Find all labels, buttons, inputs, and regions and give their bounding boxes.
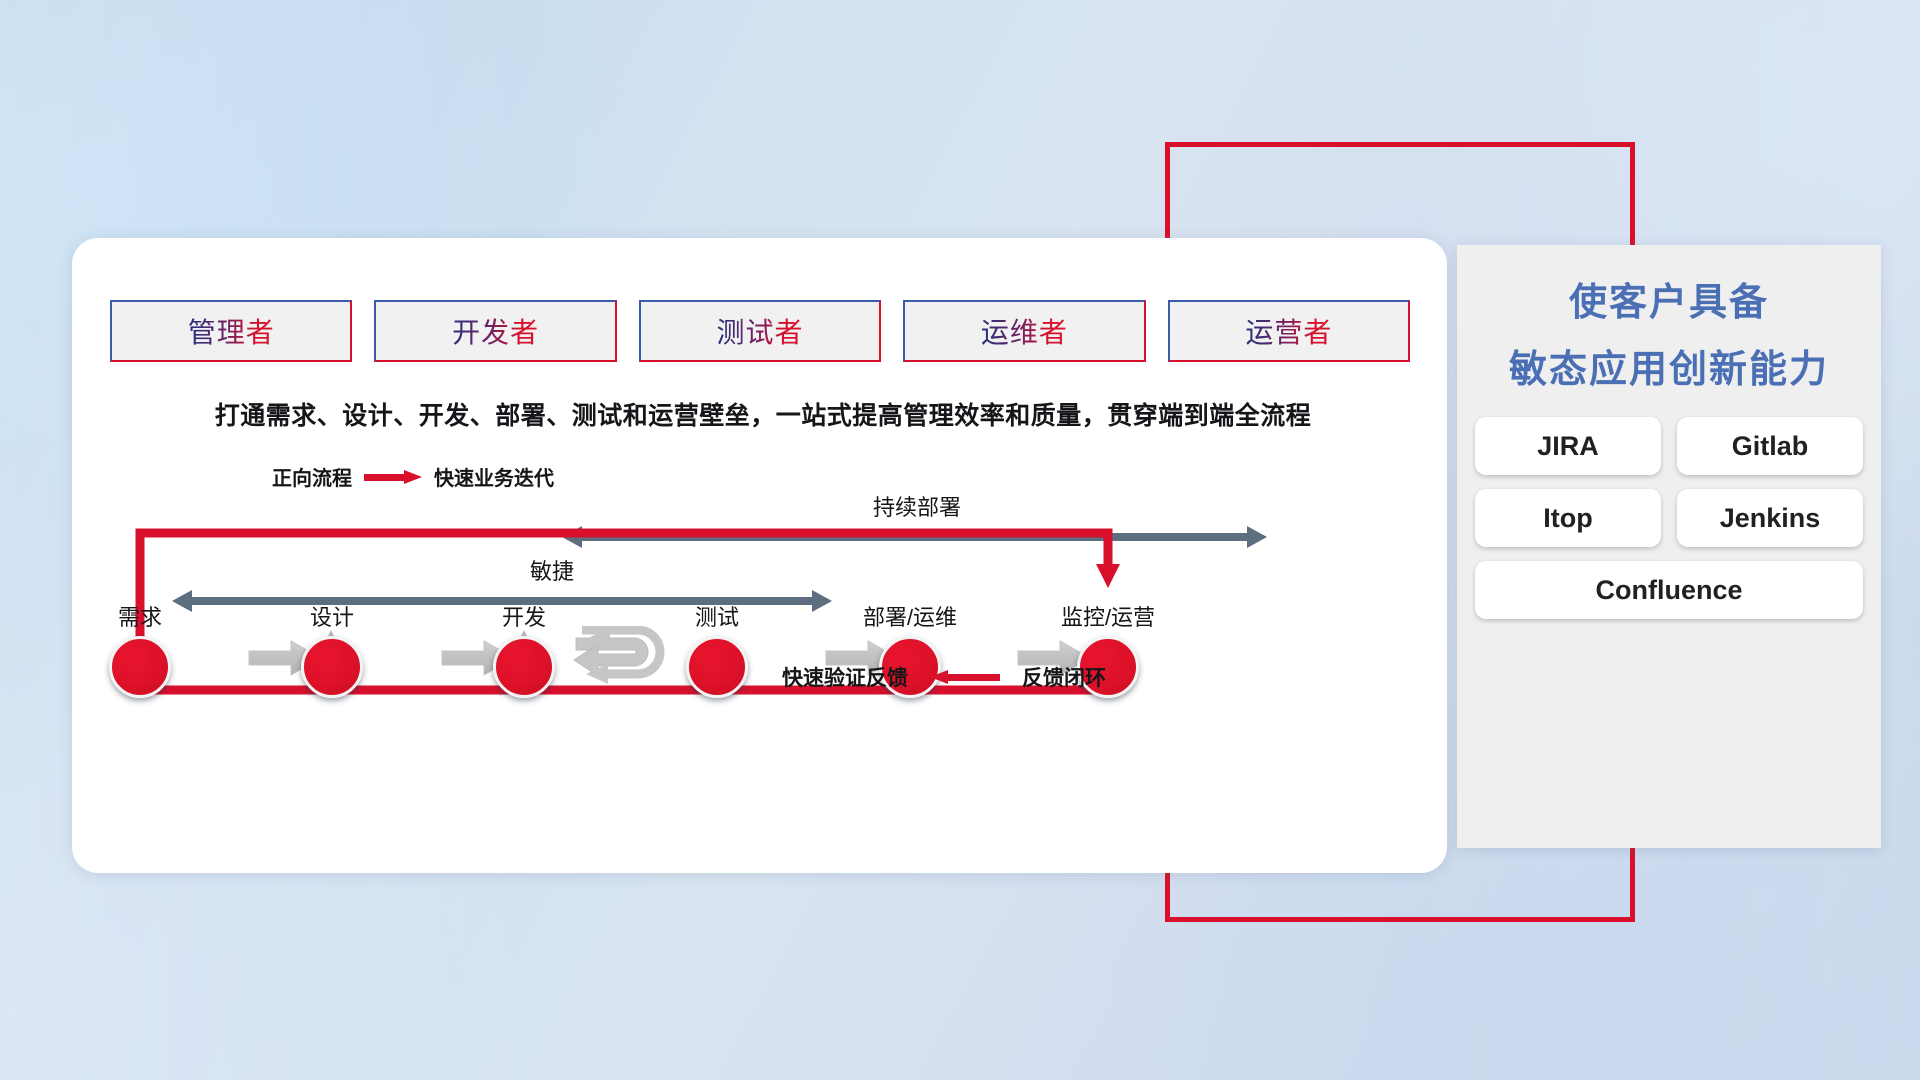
tool-chip-jenkins[interactable]: Jenkins	[1677, 489, 1863, 547]
value-proposition-panel: 使客户具备 敏态应用创新能力 JIRA Gitlab Itop Jenkins …	[1457, 245, 1881, 848]
feedback-loop-note: 快速验证反馈 反馈闭环	[782, 662, 1106, 692]
left-red-arrow-icon	[930, 670, 1000, 684]
pipeline-node-label: 测试	[657, 600, 777, 632]
tool-chip-grid: JIRA Gitlab Itop Jenkins Confluence	[1457, 417, 1881, 619]
pipeline-node-label: 设计	[272, 600, 392, 632]
pipeline-row: 需求 设计 开发	[72, 238, 1447, 873]
pipeline-node-dot	[686, 636, 748, 698]
pipeline-node-label: 需求	[80, 600, 200, 632]
pipeline-node-label: 监控/运营	[1048, 600, 1168, 632]
panel-title-line2: 敏态应用创新能力	[1457, 338, 1881, 393]
pipeline-node-dot	[493, 636, 555, 698]
pipeline-node-label: 开发	[464, 600, 584, 632]
feedback-right-label: 反馈闭环	[1022, 662, 1106, 692]
panel-title: 使客户具备 敏态应用创新能力	[1457, 245, 1881, 393]
pipeline-node-requirements[interactable]: 需求	[80, 600, 200, 698]
pipeline-node-design[interactable]: 设计	[272, 600, 392, 698]
feedback-left-label: 快速验证反馈	[782, 662, 908, 692]
panel-title-line1: 使客户具备	[1457, 271, 1881, 326]
pipeline-node-testing[interactable]: 测试	[657, 600, 777, 698]
pipeline-node-dot	[301, 636, 363, 698]
pipeline-node-dot	[109, 636, 171, 698]
tool-chip-itop[interactable]: Itop	[1475, 489, 1661, 547]
tool-chip-gitlab[interactable]: Gitlab	[1677, 417, 1863, 475]
main-diagram-card: 管理者 开发者 测试者 运维者 运营者 打通需求、设计、开发、部署、测试和运营壁…	[72, 238, 1447, 873]
tool-chip-jira[interactable]: JIRA	[1475, 417, 1661, 475]
pipeline-node-label: 部署/运维	[850, 600, 970, 632]
pipeline-node-development[interactable]: 开发	[464, 600, 584, 698]
tool-chip-confluence[interactable]: Confluence	[1475, 561, 1863, 619]
